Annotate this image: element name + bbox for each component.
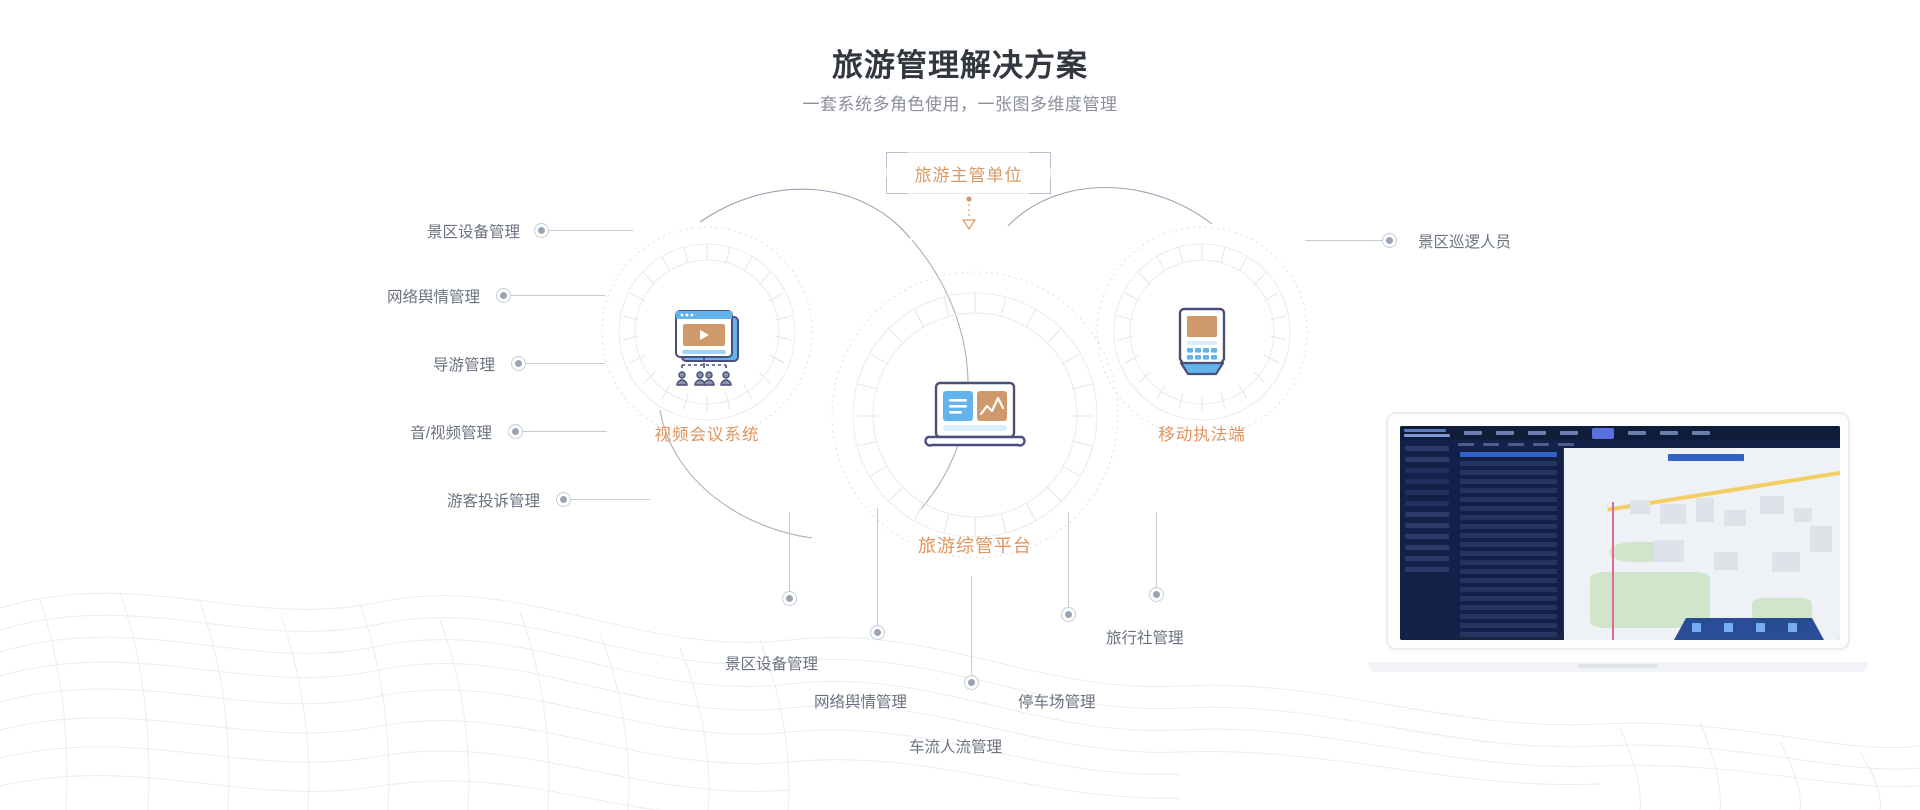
laptop-dashboard-icon bbox=[830, 380, 1120, 452]
menu-item[interactable] bbox=[1660, 431, 1678, 435]
layer-row[interactable] bbox=[1460, 479, 1557, 484]
tab-chip[interactable] bbox=[1533, 443, 1549, 446]
layer-row[interactable] bbox=[1460, 497, 1557, 502]
menu-item-active[interactable] bbox=[1592, 428, 1614, 439]
sidebar-item[interactable] bbox=[1405, 534, 1449, 539]
menu-item[interactable] bbox=[1560, 431, 1578, 435]
handheld-device-icon bbox=[1095, 307, 1309, 383]
leaf-label-right-1: 景区巡逻人员 bbox=[1418, 230, 1511, 252]
node-bottom-2 bbox=[870, 625, 885, 640]
menu-item[interactable] bbox=[1496, 431, 1514, 435]
leaf-label-bottom-4: 停车场管理 bbox=[1018, 690, 1096, 712]
node-right-1 bbox=[1382, 233, 1397, 248]
leaf-label-bottom-2: 网络舆情管理 bbox=[814, 690, 907, 712]
sidebar-item[interactable] bbox=[1405, 501, 1449, 506]
dock-icon-command-center[interactable] bbox=[1692, 623, 1701, 632]
sidebar-item-selected[interactable] bbox=[1405, 468, 1449, 473]
cluster-video-conference: 视频会议系统 bbox=[600, 225, 814, 439]
laptop-screen bbox=[1400, 426, 1840, 640]
node-bottom-1 bbox=[782, 591, 797, 606]
menu-item[interactable] bbox=[1692, 431, 1710, 435]
lead-line-bottom-4 bbox=[1068, 512, 1069, 608]
dashboard-tabs bbox=[1454, 440, 1840, 448]
leaf-label-bottom-5: 旅行社管理 bbox=[1106, 626, 1184, 648]
leaf-label-left-2: 网络舆情管理 bbox=[290, 285, 480, 307]
layer-row-selected[interactable] bbox=[1460, 452, 1557, 457]
layer-row[interactable] bbox=[1460, 533, 1557, 538]
dock-icon-device-manage[interactable] bbox=[1756, 623, 1765, 632]
cluster-tourism-platform: 旅游综管平台 bbox=[830, 270, 1120, 560]
dashboard-logo bbox=[1400, 429, 1454, 437]
dashboard-menu bbox=[1454, 428, 1710, 439]
sidebar-item[interactable] bbox=[1405, 556, 1449, 561]
cluster-label-tourism-platform: 旅游综管平台 bbox=[830, 532, 1120, 558]
layer-row[interactable] bbox=[1460, 506, 1557, 511]
node-bottom-5 bbox=[1149, 587, 1164, 602]
tab-chip[interactable] bbox=[1558, 443, 1574, 446]
gis-dashboard-mock bbox=[1400, 426, 1840, 640]
leaf-label-bottom-3: 车流人流管理 bbox=[909, 735, 1002, 757]
layer-row[interactable] bbox=[1460, 596, 1557, 601]
node-bottom-4 bbox=[1061, 607, 1076, 622]
menu-item[interactable] bbox=[1528, 431, 1546, 435]
video-window-icon bbox=[600, 307, 814, 391]
lead-line-bottom-1 bbox=[789, 512, 790, 592]
dashboard-topbar bbox=[1400, 426, 1840, 440]
layer-row[interactable] bbox=[1460, 542, 1557, 547]
map-building bbox=[1654, 540, 1684, 562]
layer-row[interactable] bbox=[1460, 578, 1557, 583]
map-building bbox=[1794, 508, 1812, 522]
page-subtitle: 一套系统多角色使用，一张图多维度管理 bbox=[0, 90, 1920, 115]
layer-row[interactable] bbox=[1460, 551, 1557, 556]
layer-row[interactable] bbox=[1460, 515, 1557, 520]
leaf-label-left-3: 导游管理 bbox=[305, 353, 495, 375]
map-building bbox=[1714, 552, 1738, 570]
solution-infographic: 旅游管理解决方案 一套系统多角色使用，一张图多维度管理 旅游主管单位 bbox=[0, 0, 1920, 810]
lead-line-bottom-3 bbox=[971, 576, 972, 676]
dashboard-layer-panel bbox=[1454, 448, 1564, 634]
cluster-label-mobile-enforcement: 移动执法端 bbox=[1095, 421, 1309, 445]
tab-chip[interactable] bbox=[1458, 443, 1474, 446]
node-left-5 bbox=[556, 492, 571, 507]
menu-item[interactable] bbox=[1464, 431, 1482, 435]
map-view-toggle[interactable] bbox=[1668, 454, 1744, 461]
lead-line-right-1 bbox=[1305, 240, 1385, 241]
map-bottom-dock bbox=[1674, 618, 1824, 640]
map-building bbox=[1760, 496, 1784, 514]
laptop-mockup bbox=[1368, 412, 1868, 672]
node-left-3 bbox=[511, 356, 526, 371]
sidebar-item[interactable] bbox=[1405, 567, 1449, 572]
map-building bbox=[1724, 510, 1746, 526]
tab-chip[interactable] bbox=[1508, 443, 1524, 446]
cluster-label-video-conference: 视频会议系统 bbox=[600, 421, 814, 445]
layer-row[interactable] bbox=[1460, 470, 1557, 475]
laptop-notch bbox=[1578, 664, 1658, 668]
layer-row[interactable] bbox=[1460, 587, 1557, 592]
node-left-4 bbox=[508, 424, 523, 439]
sidebar-item[interactable] bbox=[1405, 479, 1449, 484]
layer-row[interactable] bbox=[1460, 623, 1557, 628]
dock-icon-event-handling[interactable] bbox=[1724, 623, 1733, 632]
node-left-1 bbox=[534, 223, 549, 238]
layer-row[interactable] bbox=[1460, 569, 1557, 574]
layer-row[interactable] bbox=[1460, 524, 1557, 529]
sidebar-item[interactable] bbox=[1405, 512, 1449, 517]
map-building bbox=[1630, 500, 1650, 514]
sidebar-item[interactable] bbox=[1405, 457, 1449, 462]
sidebar-item[interactable] bbox=[1405, 490, 1449, 495]
leaf-label-left-1: 景区设备管理 bbox=[330, 220, 520, 242]
tab-chip[interactable] bbox=[1483, 443, 1499, 446]
layer-row[interactable] bbox=[1460, 560, 1557, 565]
lead-line-left-5 bbox=[570, 499, 650, 500]
map-metro-line bbox=[1612, 502, 1614, 640]
page-title: 旅游管理解决方案 bbox=[0, 40, 1920, 85]
leaf-label-left-4: 音/视频管理 bbox=[302, 421, 492, 443]
laptop-lid bbox=[1386, 412, 1850, 650]
leaf-label-bottom-1: 景区设备管理 bbox=[725, 652, 818, 674]
cluster-mobile-enforcement: 移动执法端 bbox=[1095, 225, 1309, 439]
lead-line-bottom-2 bbox=[877, 508, 878, 626]
dock-icon-sand-table[interactable] bbox=[1788, 623, 1797, 632]
menu-item[interactable] bbox=[1628, 431, 1646, 435]
lead-line-left-4 bbox=[522, 431, 607, 432]
sidebar-item[interactable] bbox=[1405, 446, 1449, 451]
layer-row[interactable] bbox=[1460, 614, 1557, 619]
map-building bbox=[1660, 504, 1686, 524]
dashboard-sidebar bbox=[1400, 440, 1454, 640]
dashboard-map-canvas[interactable] bbox=[1564, 448, 1840, 640]
map-building bbox=[1696, 498, 1714, 522]
lead-line-bottom-5 bbox=[1156, 512, 1157, 588]
lead-line-left-3 bbox=[525, 363, 605, 364]
lead-line-left-2 bbox=[510, 295, 605, 296]
map-building bbox=[1772, 552, 1800, 572]
layer-row[interactable] bbox=[1460, 632, 1557, 637]
sidebar-item[interactable] bbox=[1405, 523, 1449, 528]
node-left-2 bbox=[496, 288, 511, 303]
map-building bbox=[1810, 526, 1832, 552]
node-bottom-3 bbox=[964, 675, 979, 690]
layer-row[interactable] bbox=[1460, 488, 1557, 493]
sidebar-item[interactable] bbox=[1405, 545, 1449, 550]
layer-row[interactable] bbox=[1460, 605, 1557, 610]
leaf-label-left-5: 游客投诉管理 bbox=[350, 489, 540, 511]
layer-row[interactable] bbox=[1460, 461, 1557, 466]
lead-line-left-1 bbox=[548, 230, 633, 231]
